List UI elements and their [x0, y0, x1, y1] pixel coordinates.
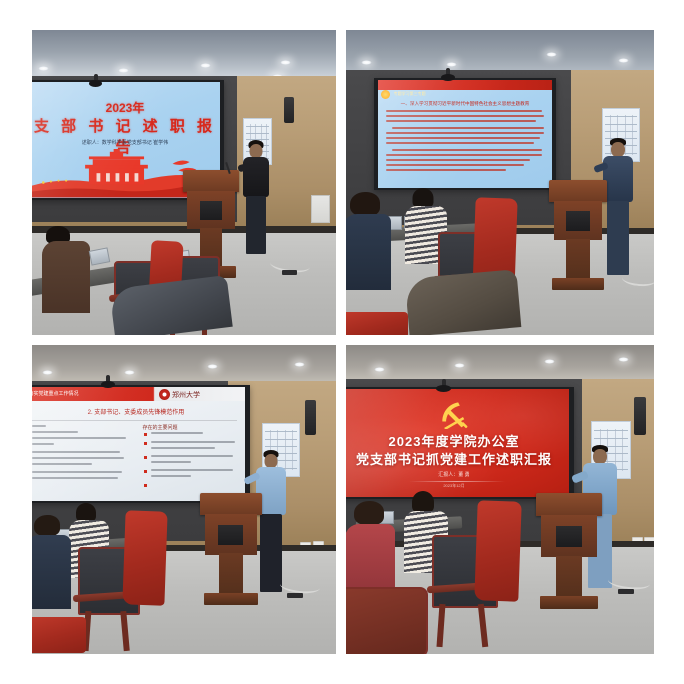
chair-leg	[478, 604, 488, 647]
floor-device	[287, 593, 303, 598]
downlight-icon	[546, 52, 557, 57]
bullet-icon	[144, 456, 147, 459]
podium-base	[204, 593, 259, 605]
downlight-icon	[118, 68, 129, 73]
podium-body	[205, 514, 257, 554]
speaker-legs	[607, 201, 629, 275]
bullet-icon	[144, 442, 147, 445]
slide-heading: 一、深入学习贯彻习近平新时代中国特色社会主义思想主题教育	[378, 101, 553, 107]
podium-body	[187, 191, 234, 230]
projector-lens-icon	[101, 381, 115, 388]
projection-screen: 落实党建重点工作情况 郑州大学 2. 支部书记、支委成员先锋模范作用 存在的主要…	[32, 385, 250, 503]
slide-column-title: 存在的主要问题	[143, 424, 178, 431]
audience-person	[32, 515, 74, 613]
podium	[200, 493, 262, 605]
wall-speaker-icon	[284, 97, 294, 123]
university-logo-text: 郑州大学	[172, 390, 200, 400]
projector-lens-icon	[89, 80, 102, 87]
podium-top	[200, 493, 262, 515]
photo-collage: 2023年 支 部 书 记 述 职 报 告 述职人：数学科学系党支部书记 崔学伟	[0, 0, 684, 684]
speaker-legs	[260, 514, 282, 592]
audience-torso	[32, 535, 71, 609]
speaker-head	[265, 454, 278, 468]
slide-header-label: 落实党建重点工作情况	[32, 390, 79, 397]
slide-title-line-2: 党支部书记抓党建工作述职汇报	[346, 449, 569, 468]
projection-screen: 2023年度学院办公室 党支部书记抓党建工作述职汇报 汇报人：董 勇 2023年…	[346, 387, 574, 499]
podium-top	[536, 493, 602, 516]
speaker-legs	[246, 196, 266, 254]
slide-banner	[378, 80, 553, 90]
slide-surface: 专题学习第三专题 一、深入学习贯彻习近平新时代中国特色社会主义思想主题教育	[378, 80, 553, 188]
chair-leg	[120, 611, 129, 651]
podium	[536, 493, 602, 609]
downlight-icon	[200, 63, 211, 68]
podium-stem	[219, 553, 244, 593]
seat-cushion	[32, 617, 86, 653]
floor-device	[618, 589, 634, 594]
downlight-icon	[544, 359, 555, 364]
downlight-icon	[618, 58, 629, 63]
wall-vent-icon	[311, 195, 330, 223]
photo-panel-4[interactable]: 2023年度学院办公室 党支部书记抓党建工作述职汇报 汇报人：董 勇 2023年…	[346, 345, 654, 654]
audience-hair	[350, 192, 380, 216]
podium-control-panel	[556, 526, 583, 547]
wall-speaker-icon	[634, 397, 646, 435]
audience-torso	[109, 275, 232, 335]
speaker-torso	[603, 156, 633, 202]
downlight-icon	[446, 62, 457, 67]
audience-hair	[413, 188, 434, 208]
slide-year: 2023年	[32, 99, 220, 116]
podium-control-panel	[566, 211, 589, 231]
speaker-head	[611, 142, 625, 157]
speaker-person	[238, 140, 274, 258]
slide-surface: 落实党建重点工作情况 郑州大学 2. 支部书记、支委成员先锋模范作用 存在的主要…	[32, 387, 245, 500]
draped-coat	[474, 500, 521, 601]
podium-base	[540, 596, 598, 609]
podium-top	[549, 180, 607, 202]
projection-screen: 专题学习第三专题 一、深入学习贯彻习近平新时代中国特色社会主义思想主题教育	[374, 78, 556, 190]
podium-base	[552, 278, 603, 290]
chair	[346, 587, 424, 653]
photo-panel-3[interactable]: 落实党建重点工作情况 郑州大学 2. 支部书记、支委成员先锋模范作用 存在的主要…	[32, 345, 336, 654]
audience-person	[52, 282, 172, 335]
podium-body	[554, 201, 603, 241]
slide-date: 2023年12月	[346, 483, 569, 489]
speaker-head	[250, 144, 263, 158]
audience-torso	[405, 269, 522, 335]
podium-control-panel	[218, 525, 243, 545]
downlight-icon	[618, 357, 629, 362]
divider	[32, 420, 237, 421]
bullet-icon	[144, 484, 147, 487]
podium	[549, 180, 607, 290]
downlight-icon	[361, 60, 372, 65]
downlight-icon	[207, 364, 218, 369]
chair-back	[346, 587, 428, 654]
podium-body	[541, 515, 596, 557]
speaker-head	[593, 449, 607, 464]
university-logo-mark-icon	[159, 389, 170, 400]
projector-lens-icon	[436, 385, 451, 392]
slide-subtitle: 述职人：数学科学系党支部书记 崔学伟	[32, 139, 220, 146]
podium-stem	[566, 239, 589, 279]
floor-device	[282, 270, 297, 275]
audience-hair	[354, 501, 384, 525]
audience-hair	[412, 491, 434, 513]
downlight-icon	[294, 362, 305, 367]
slide-presenter: 汇报人：董 勇	[346, 471, 569, 478]
slide-title-line-1: 2023年度学院办公室	[346, 431, 569, 450]
slide-heading: 2. 支部书记、支委成员先锋模范作用	[32, 407, 245, 416]
downlight-icon	[42, 370, 53, 375]
podium-stem	[556, 556, 582, 598]
audience-hair	[34, 515, 60, 536]
downlight-icon	[280, 60, 291, 65]
bullet-icon	[144, 433, 147, 436]
projector-lens-icon	[441, 74, 455, 81]
bullet-icon	[144, 470, 147, 473]
chair-leg	[437, 604, 446, 647]
slide-surface: 2023年度学院办公室 党支部书记抓党建工作述职汇报 汇报人：董 勇 2023年…	[346, 389, 569, 497]
downlight-icon	[124, 370, 135, 375]
university-logo: 郑州大学	[159, 389, 200, 400]
slide-banner-label: 专题学习第三专题	[394, 91, 426, 97]
draped-coat	[122, 510, 167, 605]
photo-panel-1[interactable]: 2023年 支 部 书 记 述 职 报 告 述职人：数学科学系党支部书记 崔学伟	[32, 30, 336, 335]
podium-control-panel	[200, 201, 223, 220]
wall-speaker-icon	[305, 400, 316, 435]
screen-glare	[32, 387, 245, 500]
seat-cushion	[346, 312, 408, 335]
downlight-icon	[374, 367, 385, 372]
downlight-icon	[38, 66, 49, 71]
downlight-icon	[454, 363, 465, 368]
photo-panel-2[interactable]: 专题学习第三专题 一、深入学习贯彻习近平新时代中国特色社会主义思想主题教育	[346, 30, 654, 335]
cpc-emblem-icon	[437, 399, 471, 429]
sunburst-icon	[381, 90, 390, 99]
